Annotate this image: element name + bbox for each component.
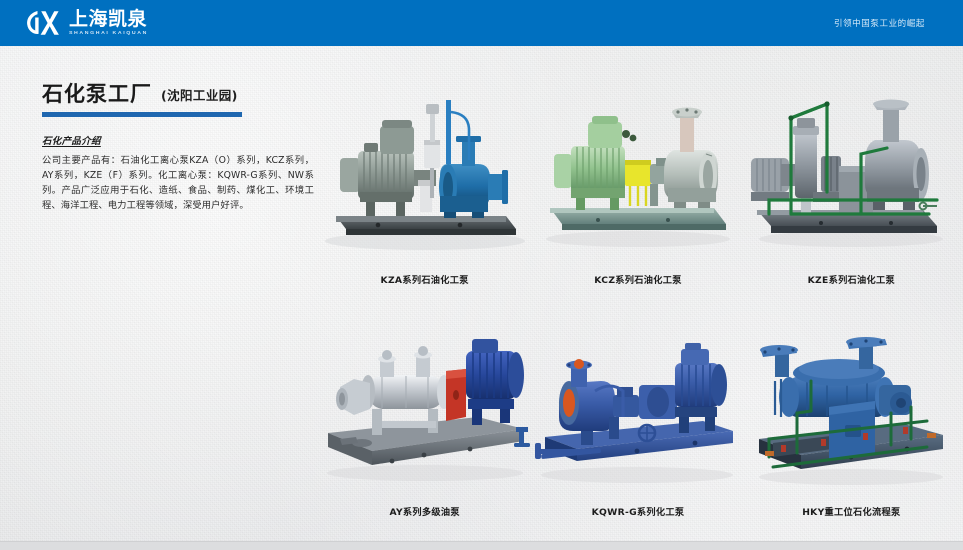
hky-pump-photo bbox=[745, 322, 958, 492]
kza-pump-photo bbox=[318, 93, 531, 258]
product-card-ay[interactable]: AY系列多级油泵 bbox=[318, 278, 531, 518]
page-subtitle: (沈阳工业园) bbox=[161, 85, 238, 105]
product-grid: KZA系列石油化工泵 bbox=[318, 56, 958, 526]
product-caption: KQWR-G系列化工泵 bbox=[592, 504, 685, 518]
content-sheet: 石化泵工厂 (沈阳工业园) 石化产品介绍 公司主要产品有：石油化工离心泵KZA（… bbox=[0, 46, 963, 541]
title-underline-rule bbox=[42, 112, 242, 117]
page-title: 石化泵工厂 bbox=[42, 84, 152, 105]
product-caption: AY系列多级油泵 bbox=[389, 504, 459, 518]
brand-name-en: SHANGHAI KAIQUAN bbox=[69, 31, 148, 36]
product-caption: HKY重工位石化流程泵 bbox=[802, 504, 900, 518]
header-tagline: 引领中国泵工业的崛起 bbox=[834, 17, 925, 29]
product-card-kcz[interactable]: KCZ系列石油化工泵 bbox=[531, 56, 744, 286]
intro-block: 石化泵工厂 (沈阳工业园) 石化产品介绍 公司主要产品有：石油化工离心泵KZA（… bbox=[42, 84, 314, 213]
product-card-kza[interactable]: KZA系列石油化工泵 bbox=[318, 56, 531, 286]
kaiquan-monogram-icon bbox=[24, 8, 62, 38]
product-row-1: KZA系列石油化工泵 bbox=[318, 56, 958, 286]
intro-body-text: 公司主要产品有：石油化工离心泵KZA（O）系列，KCZ系列，AY系列，KZE（F… bbox=[42, 153, 314, 213]
brand-name-cn: 上海凯泉 bbox=[69, 10, 148, 29]
product-card-hky[interactable]: HKY重工位石化流程泵 bbox=[745, 278, 958, 518]
page-header: 上海凯泉 SHANGHAI KAIQUAN 引领中国泵工业的崛起 bbox=[0, 0, 963, 46]
page-bottom-edge bbox=[0, 541, 963, 550]
title-row: 石化泵工厂 (沈阳工业园) bbox=[42, 84, 314, 105]
brand-logo[interactable]: 上海凯泉 SHANGHAI KAIQUAN bbox=[24, 8, 148, 38]
intro-section-heading: 石化产品介绍 bbox=[42, 133, 314, 147]
kqwr-g-pump-photo bbox=[531, 322, 744, 492]
product-card-kze[interactable]: KZE系列石油化工泵 bbox=[745, 56, 958, 286]
ay-pump-photo bbox=[318, 322, 531, 492]
kcz-pump-photo bbox=[531, 93, 744, 258]
kze-pump-photo bbox=[745, 93, 958, 258]
product-row-2: AY系列多级油泵 bbox=[318, 278, 958, 518]
product-card-kqwr-g[interactable]: KQWR-G系列化工泵 bbox=[531, 278, 744, 518]
slide-page: 上海凯泉 SHANGHAI KAIQUAN 引领中国泵工业的崛起 石化泵工厂 (… bbox=[0, 0, 963, 550]
